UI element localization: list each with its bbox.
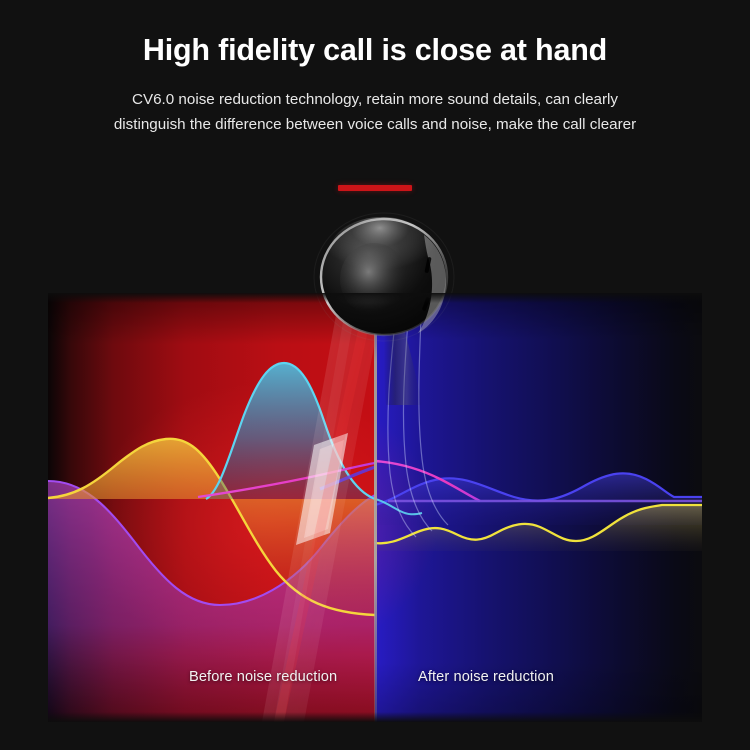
page-subtitle: CV6.0 noise reduction technology, retain… [0,88,750,137]
after-label: After noise reduction [418,669,554,685]
earbud-driver [340,243,408,315]
promo-banner: High fidelity call is close at hand CV6.… [0,0,750,750]
subtitle-line-2: distinguish the difference between voice… [26,113,724,138]
earbud-product-image [300,205,480,405]
subtitle-line-1: CV6.0 noise reduction technology, retain… [26,88,724,113]
before-label: Before noise reduction [189,669,337,685]
page-title: High fidelity call is close at hand [0,34,750,68]
panel-bottom-fade [48,712,702,722]
accent-divider [338,185,412,191]
panel-top-fade [48,293,702,303]
